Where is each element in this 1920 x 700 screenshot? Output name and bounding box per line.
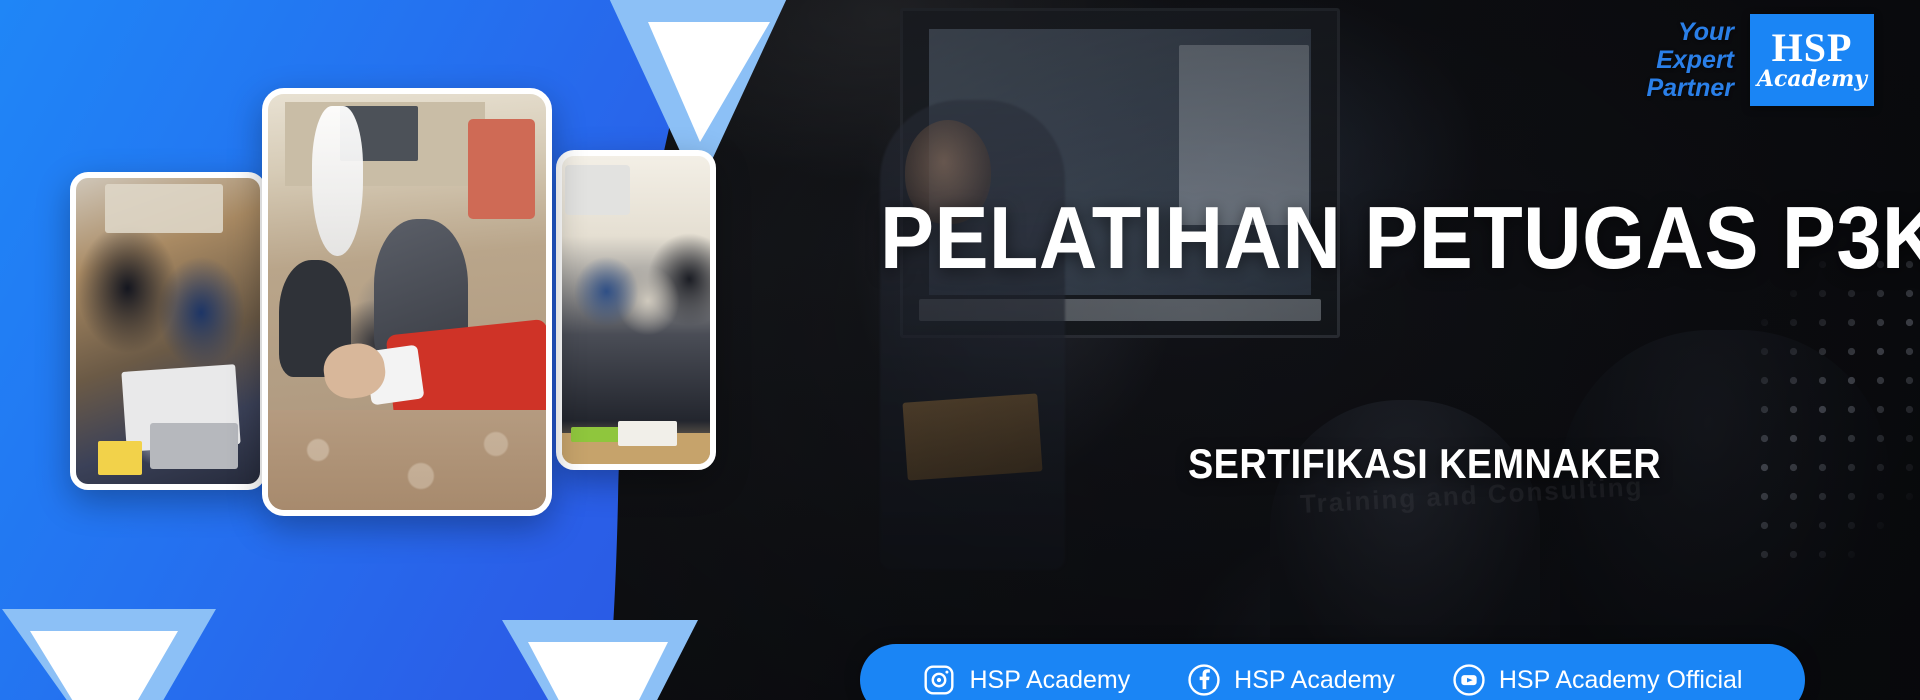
- social-link-instagram[interactable]: HSP Academy: [922, 663, 1130, 697]
- photo-card-instructor: [556, 150, 716, 470]
- social-link-facebook[interactable]: HSP Academy: [1187, 663, 1395, 697]
- photo-card-cpr-practice: [262, 88, 552, 516]
- social-link-youtube[interactable]: HSP Academy Official: [1452, 663, 1743, 697]
- chevron-decoration-bottom-left: [0, 575, 220, 700]
- instagram-icon: [922, 663, 956, 697]
- chevron-decoration-bottom-center: [500, 612, 700, 700]
- tagline-line-3: Partner: [1646, 74, 1734, 102]
- youtube-icon: [1452, 663, 1486, 697]
- social-links-bar: HSP Academy HSP Academy HSP Academy Offi…: [860, 644, 1805, 700]
- photo-card-2-image: [268, 94, 546, 510]
- brand-tagline: Your Expert Partner: [1646, 18, 1734, 102]
- page-subtitle: SERTIFIKASI KEMNAKER: [1188, 440, 1661, 488]
- logo-hsp-text: HSP: [1772, 30, 1853, 67]
- page-title: PELATIHAN PETUGAS P3K: [880, 196, 1920, 280]
- photo-card-3-image: [562, 156, 710, 464]
- tagline-line-2: Expert: [1646, 46, 1734, 74]
- social-label-instagram: HSP Academy: [969, 666, 1130, 695]
- logo-badge: HSP Academy: [1750, 14, 1874, 106]
- banner-root: Training and Consulting: [0, 0, 1920, 700]
- facebook-icon: [1187, 663, 1221, 697]
- tagline-line-1: Your: [1646, 18, 1734, 46]
- social-label-youtube: HSP Academy Official: [1499, 666, 1743, 695]
- photo-card-1-image: [76, 178, 260, 484]
- social-label-facebook: HSP Academy: [1234, 666, 1395, 695]
- photo-card-training-desk: [70, 172, 266, 490]
- logo-academy-text: Academy: [1757, 68, 1867, 90]
- brand-logo: Your Expert Partner HSP Academy: [1646, 14, 1874, 106]
